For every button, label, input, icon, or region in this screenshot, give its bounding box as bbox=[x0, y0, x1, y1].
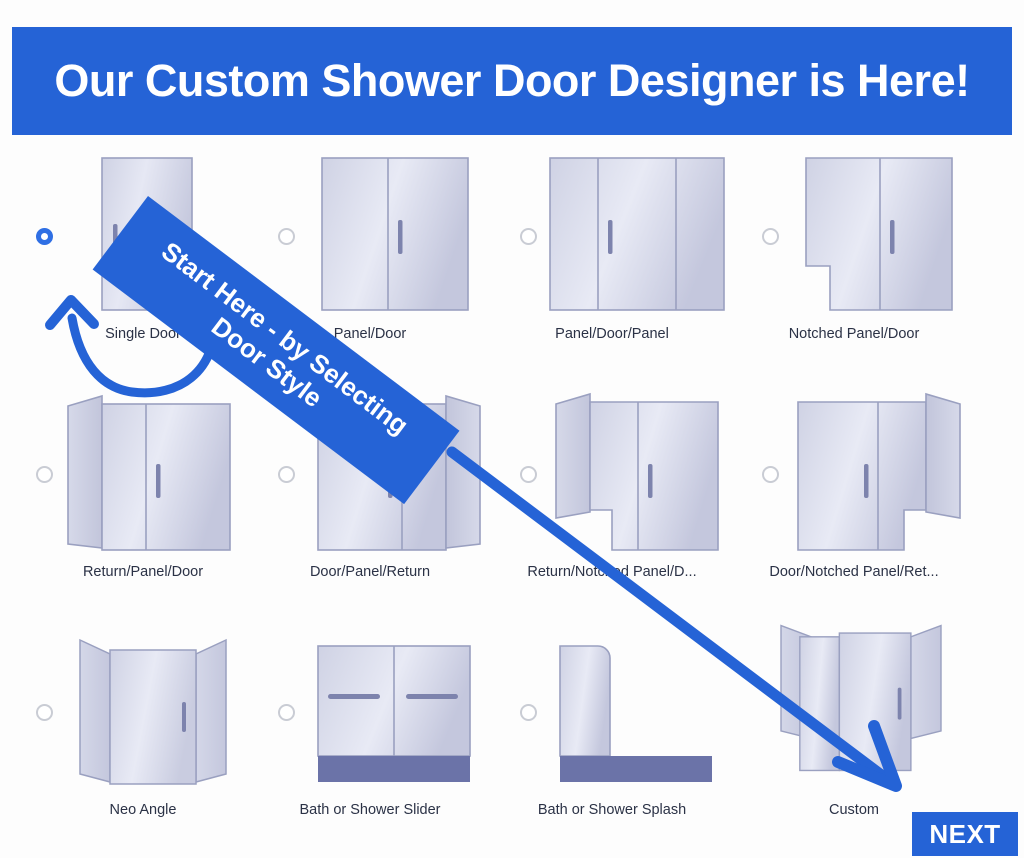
radio-neo-angle[interactable] bbox=[36, 704, 53, 721]
radio-single-door[interactable] bbox=[36, 228, 53, 245]
next-button[interactable]: NEXT bbox=[912, 812, 1018, 856]
radio-return-panel-door[interactable] bbox=[36, 466, 53, 483]
option-neo-angle[interactable]: Neo Angle bbox=[0, 624, 256, 861]
option-bath-slider[interactable]: Bath or Shower Slider bbox=[242, 624, 498, 861]
panel-door-icon bbox=[300, 154, 490, 314]
option-label: Door/Panel/Return bbox=[242, 564, 498, 580]
option-return-panel-door[interactable]: Return/Panel/Door bbox=[0, 386, 256, 623]
radio-bath-slider[interactable] bbox=[278, 704, 295, 721]
option-label: Neo Angle bbox=[0, 802, 256, 818]
option-label: Bath or Shower Slider bbox=[242, 802, 498, 818]
option-label: Panel/Door/Panel bbox=[484, 326, 740, 342]
option-label: Bath or Shower Splash bbox=[484, 802, 740, 818]
option-label: Door/Notched Panel/Ret... bbox=[726, 564, 982, 580]
radio-door-panel-return[interactable] bbox=[278, 466, 295, 483]
option-return-notched-panel-door[interactable]: Return/Notched Panel/D... bbox=[484, 386, 740, 623]
return-notched-panel-door-icon bbox=[542, 392, 732, 552]
option-label: Notched Panel/Door bbox=[726, 326, 982, 342]
designer-page: Our Custom Shower Door Designer is Here! bbox=[0, 0, 1024, 858]
custom-icon bbox=[766, 618, 956, 778]
panel-door-panel-icon bbox=[542, 154, 732, 314]
bath-slider-icon bbox=[300, 630, 490, 790]
grid-row: Return/Panel/Door bbox=[0, 386, 1024, 623]
option-bath-splash[interactable]: Bath or Shower Splash bbox=[484, 624, 740, 861]
option-label: Return/Notched Panel/D... bbox=[484, 564, 740, 580]
bath-splash-icon bbox=[542, 630, 732, 790]
radio-notched-panel-door[interactable] bbox=[762, 228, 779, 245]
radio-door-notched-panel-return[interactable] bbox=[762, 466, 779, 483]
grid-row: Neo Angle bbox=[0, 624, 1024, 861]
option-panel-door-panel[interactable]: Panel/Door/Panel bbox=[484, 148, 740, 385]
radio-panel-door[interactable] bbox=[278, 228, 295, 245]
option-notched-panel-door[interactable]: Notched Panel/Door bbox=[726, 148, 982, 385]
radio-bath-splash[interactable] bbox=[520, 704, 537, 721]
page-title: Our Custom Shower Door Designer is Here! bbox=[54, 55, 969, 107]
radio-panel-door-panel[interactable] bbox=[520, 228, 537, 245]
notched-panel-door-icon bbox=[784, 154, 974, 314]
return-panel-door-icon bbox=[58, 392, 248, 552]
option-label: Return/Panel/Door bbox=[0, 564, 256, 580]
neo-angle-icon bbox=[58, 630, 248, 790]
door-notched-panel-return-icon bbox=[784, 392, 974, 552]
radio-return-notched-panel-door[interactable] bbox=[520, 466, 537, 483]
option-door-notched-panel-return[interactable]: Door/Notched Panel/Ret... bbox=[726, 386, 982, 623]
header-banner: Our Custom Shower Door Designer is Here! bbox=[12, 27, 1012, 135]
